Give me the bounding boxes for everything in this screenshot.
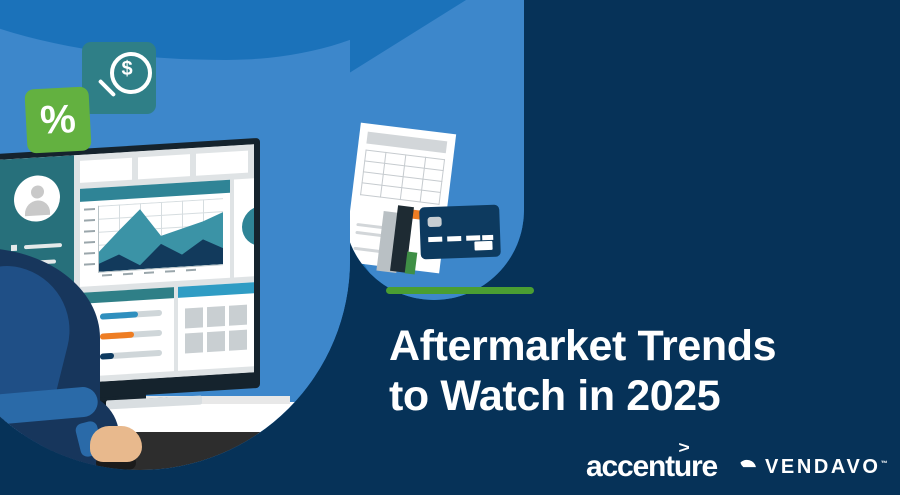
dashboard-main bbox=[74, 144, 254, 383]
invoice-table-grid bbox=[360, 149, 445, 204]
logo-row: > accenture VENDAVO™ bbox=[586, 452, 888, 482]
document-panel bbox=[344, 0, 524, 300]
vendavo-logo: VENDAVO™ bbox=[737, 457, 888, 478]
tile-grid-widget bbox=[178, 282, 254, 371]
slide-canvas: $ % bbox=[0, 0, 900, 495]
vendavo-wordmark-text: VENDAVO bbox=[765, 456, 881, 478]
kpi-tile bbox=[196, 151, 248, 176]
headline-line-1: Aftermarket Trends bbox=[389, 322, 776, 370]
area-chart-card bbox=[80, 180, 230, 287]
vendavo-swoosh-mark bbox=[737, 457, 758, 478]
card-number-block bbox=[474, 241, 492, 251]
area-chart-series bbox=[99, 198, 223, 272]
analyst-person bbox=[0, 70, 100, 470]
card-chip-icon bbox=[427, 217, 441, 227]
vendavo-wordmark: VENDAVO™ bbox=[765, 457, 888, 477]
invoice-header-block bbox=[366, 132, 447, 154]
accenture-logo: > accenture bbox=[586, 452, 717, 482]
area-chart-plot bbox=[98, 198, 223, 273]
accenture-arrow-icon: > bbox=[679, 439, 689, 456]
scene-panel: $ % bbox=[0, 0, 350, 470]
accenture-wordmark: accenture bbox=[586, 450, 717, 483]
dollar-glyph: $ bbox=[110, 52, 144, 86]
vendavo-trademark: ™ bbox=[881, 460, 888, 467]
credit-card bbox=[419, 205, 501, 260]
kpi-tile bbox=[138, 154, 190, 179]
page-title: Aftermarket Trends to Watch in 2025 bbox=[389, 322, 859, 422]
headline-line-2: to Watch in 2025 bbox=[389, 372, 859, 422]
right-hand bbox=[90, 426, 142, 462]
green-accent-bar bbox=[386, 287, 534, 294]
